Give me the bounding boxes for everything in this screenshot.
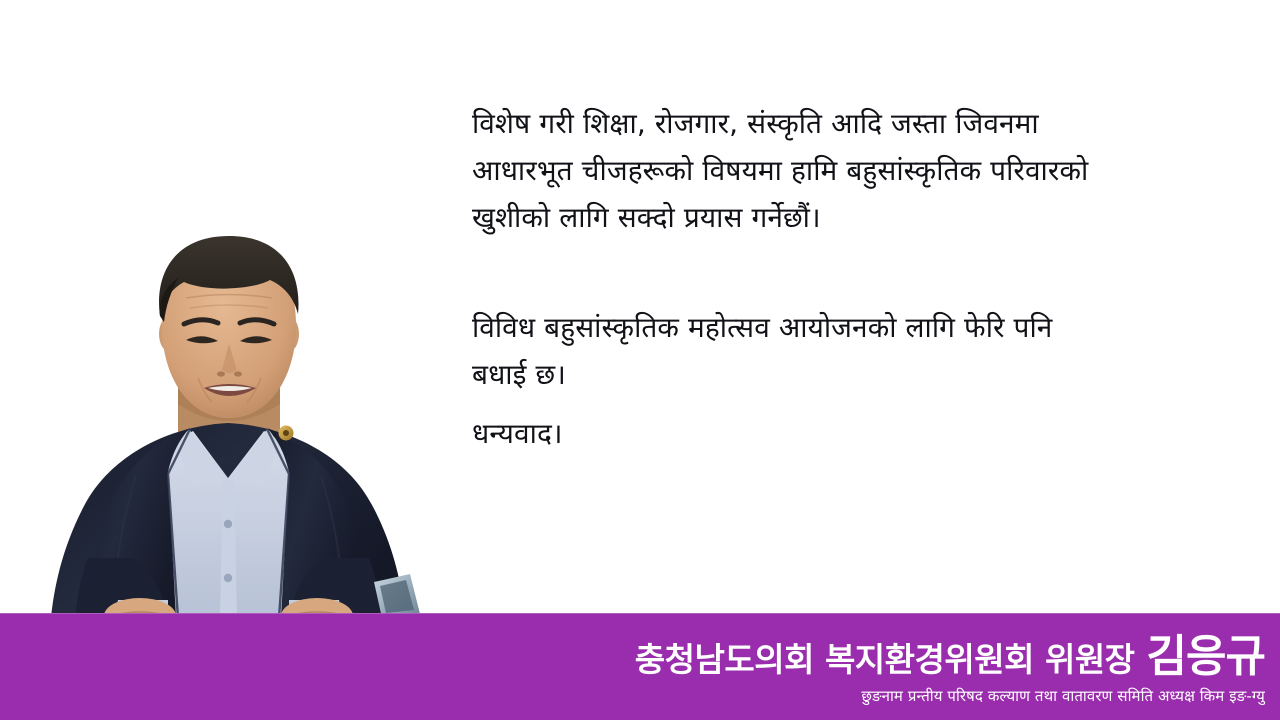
speaker-role-title: 충청남도의회 복지환경위원회 위원장 <box>635 643 1135 676</box>
lower-third-title-row: 충청남도의회 복지환경위원회 위원장 김응규 <box>635 635 1265 679</box>
lower-third-banner: 충청남도의회 복지환경위원회 위원장 김응규 छुङनाम प्रन्तीय प… <box>0 613 1280 720</box>
message-paragraph-3: धन्यवाद। <box>472 410 1182 457</box>
speaker-subtitle-nepali: छुङनाम प्रन्तीय परिषद कल्याण तथा वातावरण… <box>861 687 1265 705</box>
mobile-device-icon <box>374 574 420 618</box>
video-frame: विशेष गरी शिक्षा, रोजगार, संस्कृति आदि ज… <box>0 0 1280 720</box>
message-paragraph-2: विविध बहुसांस्कृतिक महोत्सव आयोजनको लागि… <box>472 304 1182 398</box>
message-paragraph-1: विशेष गरी शिक्षा, रोजगार, संस्कृति आदि ज… <box>472 100 1182 241</box>
speaker-name: 김응규 <box>1147 635 1265 679</box>
speaker-portrait <box>18 228 438 618</box>
speaker-portrait-illustration <box>18 228 438 618</box>
message-text-block: विशेष गरी शिक्षा, रोजगार, संस्कृति आदि ज… <box>472 100 1182 457</box>
